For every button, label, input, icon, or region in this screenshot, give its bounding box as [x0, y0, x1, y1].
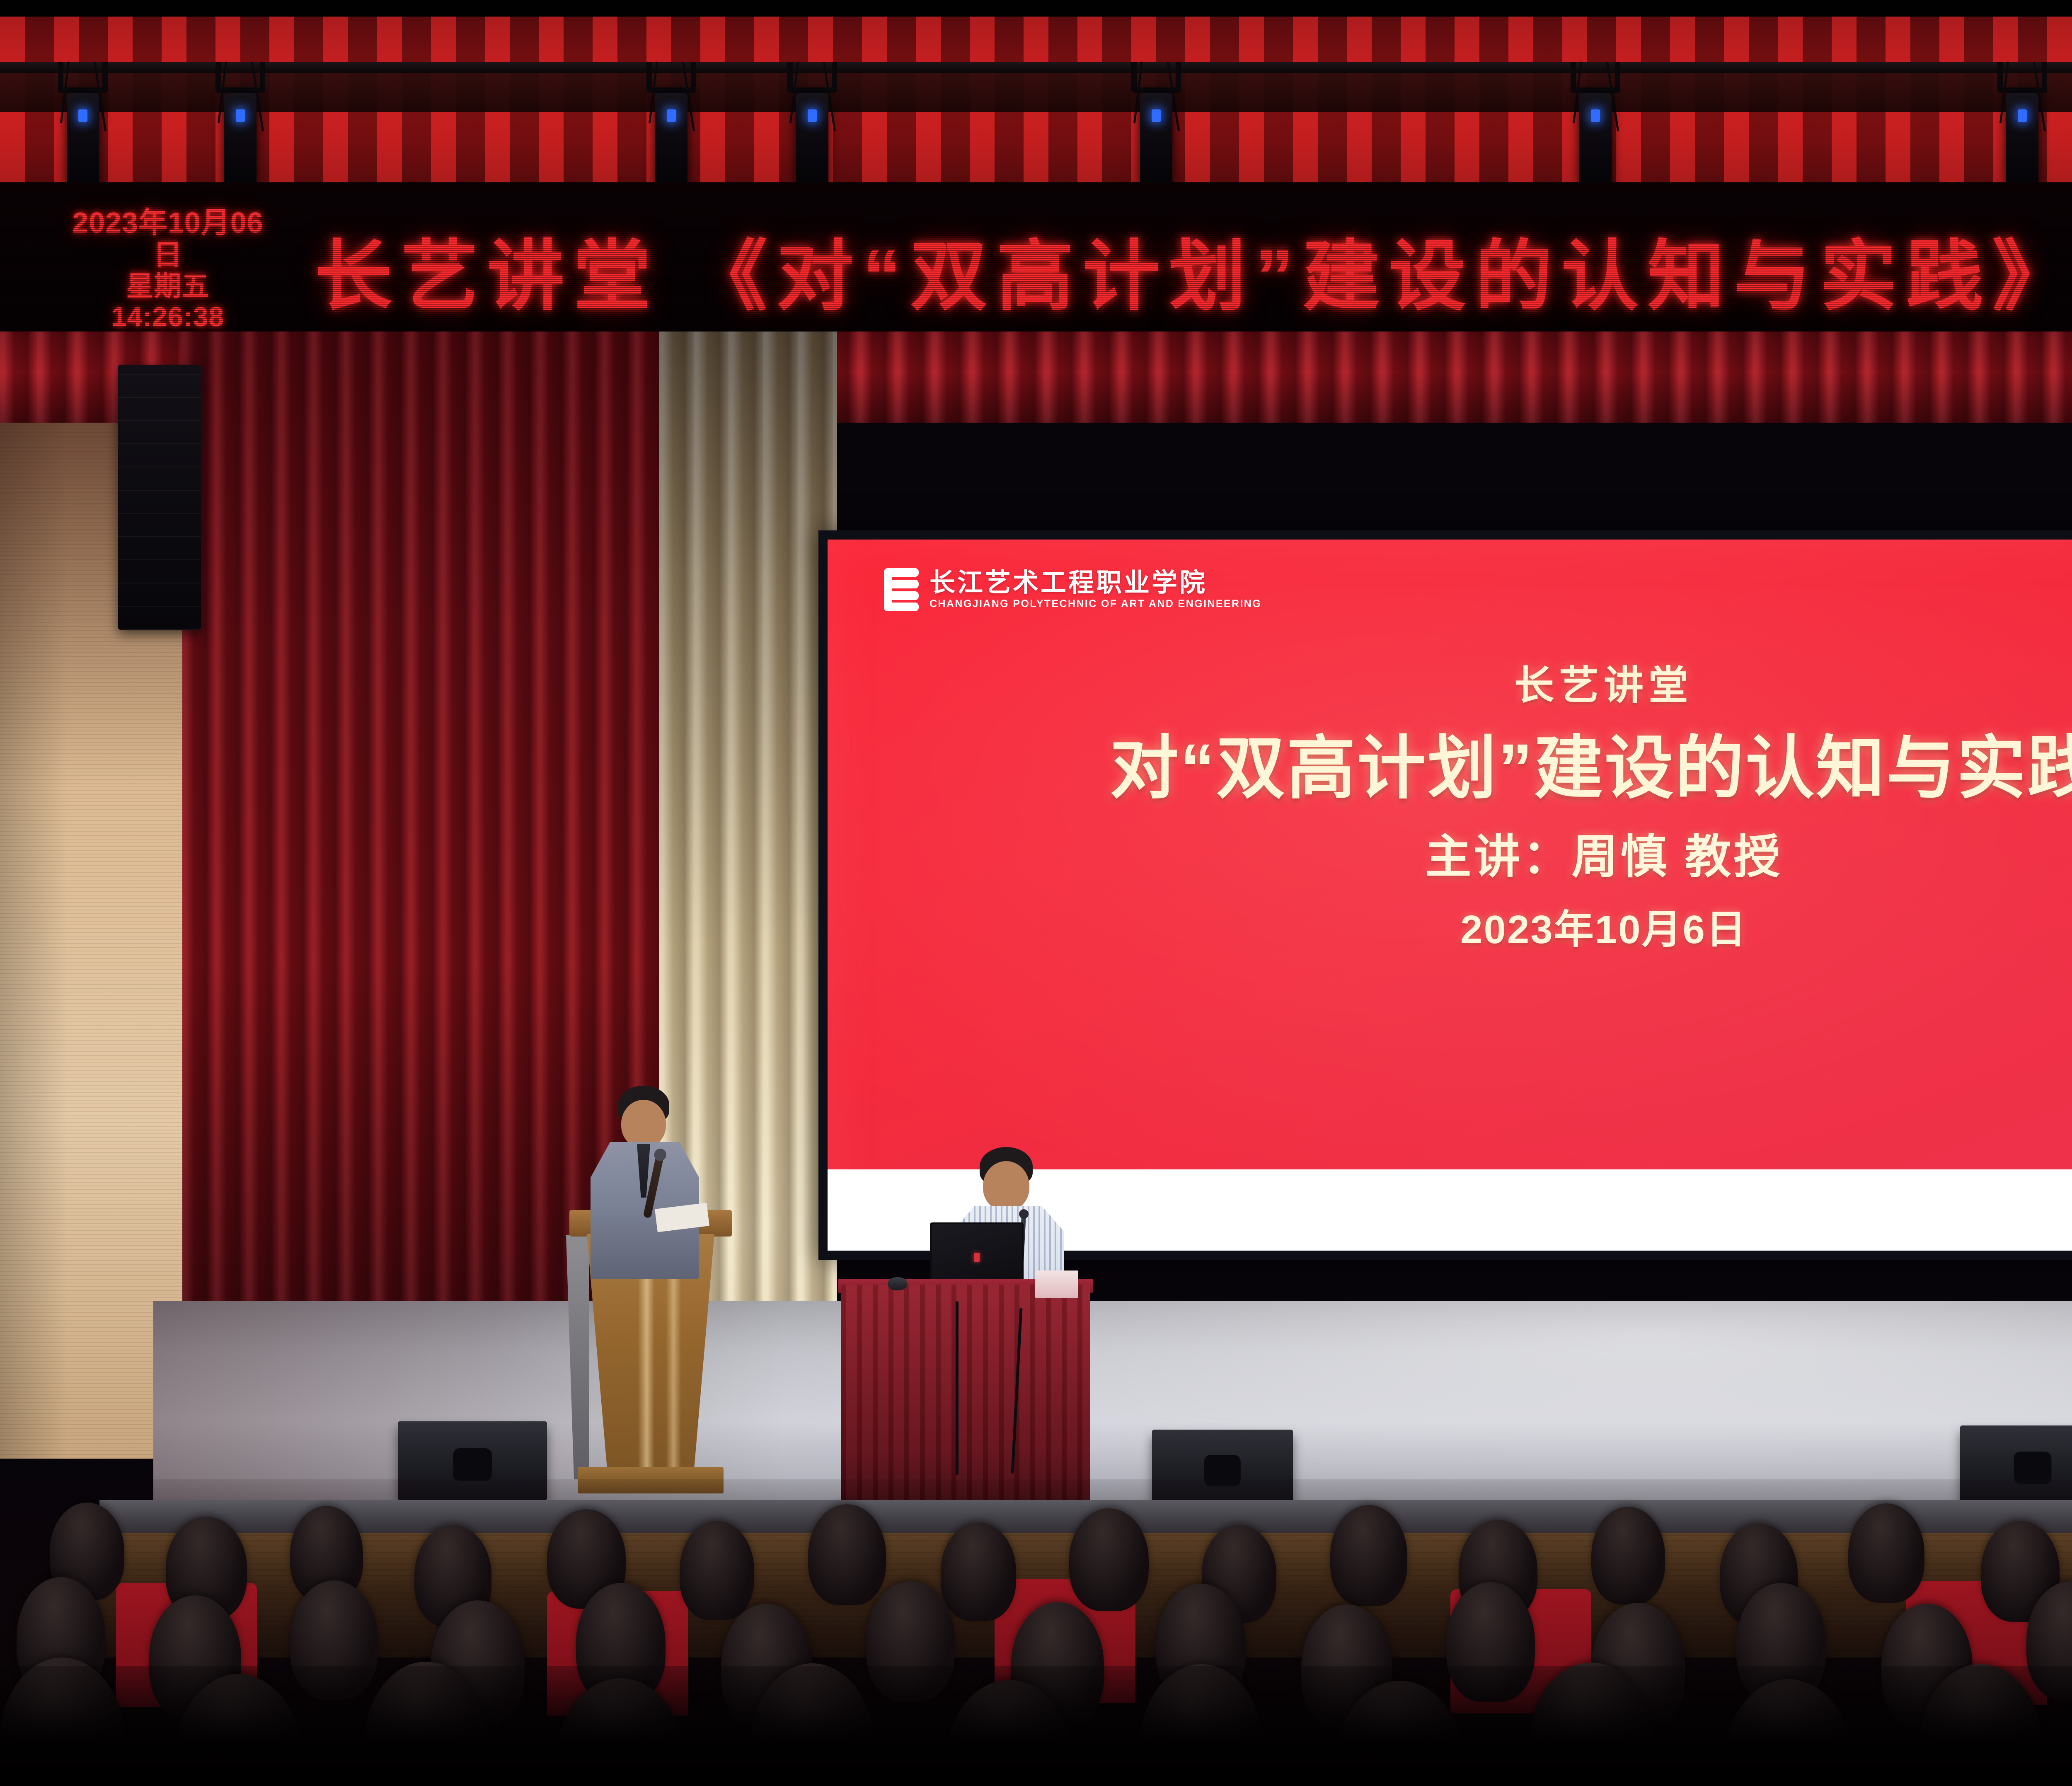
table-cable: [956, 1301, 959, 1475]
hanging-line-array-speaker: [118, 365, 201, 630]
audience-head: [808, 1504, 886, 1605]
led-date: 2023年10月06日: [70, 206, 265, 271]
foreground-shadow: [0, 1666, 2072, 1786]
table-paper-pad: [1035, 1271, 1078, 1298]
led-datetime-panel: 2023年10月06日 星期五 14:26:38: [0, 206, 265, 333]
brand-name-en: CHANGJIANG POLYTECHNIC OF ART AND ENGINE…: [929, 599, 1261, 609]
slide-speaker: 主讲：周慎 教授: [1425, 831, 1782, 882]
slide-body: 长艺讲堂 对“双高计划”建设的认知与实践 主讲：周慎 教授 2023年10月6日: [828, 664, 2072, 952]
slide-eyebrow: 长艺讲堂: [1514, 664, 1693, 708]
brand-name-cn: 长江艺术工程职业学院: [929, 570, 1261, 596]
slide-date: 2023年10月6日: [1460, 908, 1747, 952]
presenter-table: [841, 1268, 1090, 1500]
computer-mouse-icon: [888, 1277, 908, 1290]
led-time: 14:26:38: [70, 302, 265, 332]
audience-head: [1848, 1503, 1924, 1603]
changjiang-polytechnic-logo-icon: [884, 568, 919, 611]
presentation-slide[interactable]: 长江艺术工程职业学院 CHANGJIANG POLYTECHNIC OF ART…: [828, 540, 2072, 1251]
audience-head: [1069, 1508, 1149, 1611]
brand-text: 长江艺术工程职业学院 CHANGJIANG POLYTECHNIC OF ART…: [929, 570, 1261, 609]
led-banner: 2023年10月06日 星期五 14:26:38 长艺讲堂 《对“双高计划”建设…: [0, 182, 2072, 356]
brand-block: 长江艺术工程职业学院 CHANGJIANG POLYTECHNIC OF ART…: [884, 568, 1261, 611]
host-head: [621, 1100, 666, 1148]
auditorium-scene: 2023年10月06日 星期五 14:26:38 长艺讲堂 《对“双高计划”建设…: [0, 0, 2072, 1786]
presenter-head: [983, 1161, 1029, 1211]
slide-title: 对“双高计划”建设的认知与实践: [1110, 731, 2072, 807]
led-banner-text: 长艺讲堂 《对“双高计划”建设的认知与实践》: [265, 213, 2072, 325]
slide-header: 长江艺术工程职业学院 CHANGJIANG POLYTECHNIC OF ART…: [828, 559, 2072, 621]
led-weekday: 星期五: [70, 271, 265, 302]
ceiling-dark-band: [0, 73, 2072, 112]
host-at-podium: [578, 1086, 752, 1318]
audience-head: [1330, 1505, 1407, 1606]
audience-head: [941, 1522, 1016, 1621]
audience-head: [1591, 1507, 1665, 1604]
red-table-cloth: [841, 1285, 1090, 1500]
audience-head: [680, 1521, 754, 1620]
ceiling-top-edge: [0, 0, 2072, 17]
lighting-truss: [0, 62, 2072, 73]
